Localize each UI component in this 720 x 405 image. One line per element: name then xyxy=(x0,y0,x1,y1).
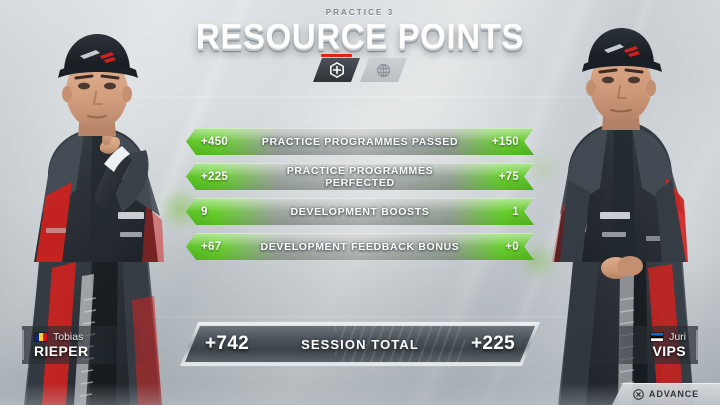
session-total-left-value: +742 xyxy=(185,333,281,355)
table-row: 9 DEVELOPMENT BOOSTS 1 xyxy=(186,198,534,225)
tab-resource-points[interactable] xyxy=(313,58,360,82)
row-left-value: +67 xyxy=(186,241,260,253)
hex-plus-icon xyxy=(329,62,345,78)
footer-strip xyxy=(0,383,720,405)
screen: PRACTICE 3 RESOURCE POINTS +450 PRACTICE… xyxy=(0,0,720,405)
row-label: PRACTICE PROGRAMMES PASSED xyxy=(260,136,460,148)
row-left-value: 9 xyxy=(186,206,260,218)
estonia-flag xyxy=(650,332,664,342)
driver-last-name: VIPS xyxy=(586,343,686,359)
driver-first-name: Tobias xyxy=(53,331,83,343)
page-subtitle: PRACTICE 3 xyxy=(0,8,720,17)
row-label: DEVELOPMENT BOOSTS xyxy=(260,206,460,218)
table-row: +67 DEVELOPMENT FEEDBACK BONUS +0 xyxy=(186,233,534,260)
tab-globe[interactable] xyxy=(360,58,407,82)
circle-x-icon xyxy=(633,389,644,400)
tab-active-indicator xyxy=(321,54,352,57)
resource-rows: +450 PRACTICE PROGRAMMES PASSED +150 +22… xyxy=(186,128,534,268)
page-header: PRACTICE 3 RESOURCE POINTS xyxy=(0,8,720,56)
page-title: RESOURCE POINTS xyxy=(0,17,720,57)
nameplate-content: Juri VIPS xyxy=(574,331,698,359)
advance-label: ADVANCE xyxy=(649,389,699,399)
session-total-right-value: +225 xyxy=(439,333,535,355)
globe-icon xyxy=(376,63,391,78)
table-row: +225 PRACTICE PROGRAMMES PERFECTED +75 xyxy=(186,163,534,190)
row-left-value: +450 xyxy=(186,136,260,148)
driver-nameplate-left: Tobias RIEPER xyxy=(22,326,146,364)
driver-first-name-row: Tobias xyxy=(34,331,89,343)
session-total-inner: +742 SESSION TOTAL +225 xyxy=(185,326,535,362)
advance-button[interactable]: ADVANCE xyxy=(612,383,720,405)
session-total-label: SESSION TOTAL xyxy=(281,337,439,352)
row-right-value: +75 xyxy=(460,171,534,183)
row-label: PRACTICE PROGRAMMES PERFECTED xyxy=(260,165,460,189)
row-right-value: +0 xyxy=(460,241,534,253)
table-row: +450 PRACTICE PROGRAMMES PASSED +150 xyxy=(186,128,534,155)
driver-first-name: Juri xyxy=(669,331,686,343)
driver-last-name: RIEPER xyxy=(34,343,89,359)
row-right-value: 1 xyxy=(460,206,534,218)
row-label: DEVELOPMENT FEEDBACK BONUS xyxy=(260,241,460,253)
nameplate-content: Tobias RIEPER xyxy=(22,331,101,359)
romania-flag xyxy=(34,332,48,342)
tab-bar xyxy=(313,58,407,82)
driver-first-name-row: Juri xyxy=(586,331,686,343)
row-right-value: +150 xyxy=(460,136,534,148)
session-total-bar: +742 SESSION TOTAL +225 xyxy=(180,322,540,366)
driver-nameplate-right: Juri VIPS xyxy=(574,326,698,364)
row-left-value: +225 xyxy=(186,171,260,183)
